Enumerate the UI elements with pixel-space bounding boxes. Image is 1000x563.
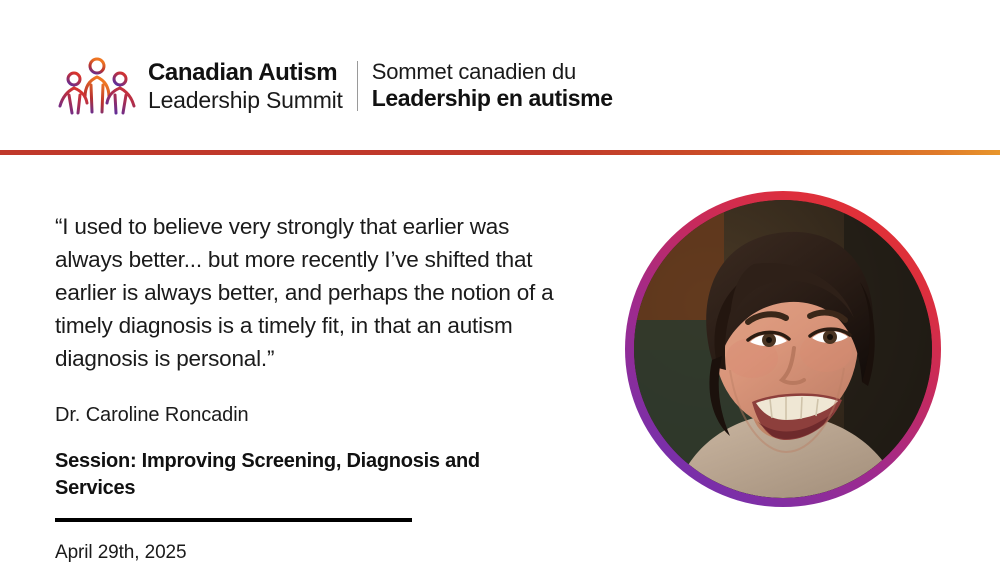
three-figures-logo-icon — [58, 56, 136, 116]
logo-wordmark-english: Canadian Autism Leadership Summit — [148, 59, 357, 114]
logo-wordmark-french: Sommet canadien du Leadership en autisme — [372, 59, 613, 112]
portrait-photo — [634, 200, 932, 498]
logo-lockup: Canadian Autism Leadership Summit Sommet… — [58, 55, 613, 117]
logo-divider — [357, 61, 358, 111]
speaker-name: Dr. Caroline Roncadin — [55, 402, 575, 428]
header-gradient-rule — [0, 150, 1000, 155]
logo-subtitle-fr: Sommet canadien du — [372, 59, 613, 85]
quote-content: “I used to believe very strongly that ea… — [55, 210, 575, 563]
session-title: Session: Improving Screening, Diagnosis … — [55, 448, 525, 502]
header: Canadian Autism Leadership Summit Sommet… — [0, 0, 1000, 150]
logo-subtitle-en: Leadership Summit — [148, 87, 343, 114]
quote-slide: Canadian Autism Leadership Summit Sommet… — [0, 0, 1000, 563]
section-divider — [55, 518, 412, 522]
logo-title-fr: Leadership en autisme — [372, 85, 613, 112]
logo-title-en: Canadian Autism — [148, 59, 343, 87]
event-date: April 29th, 2025 — [55, 540, 575, 563]
speaker-portrait — [625, 191, 941, 507]
quote-text: “I used to believe very strongly that ea… — [55, 210, 575, 375]
